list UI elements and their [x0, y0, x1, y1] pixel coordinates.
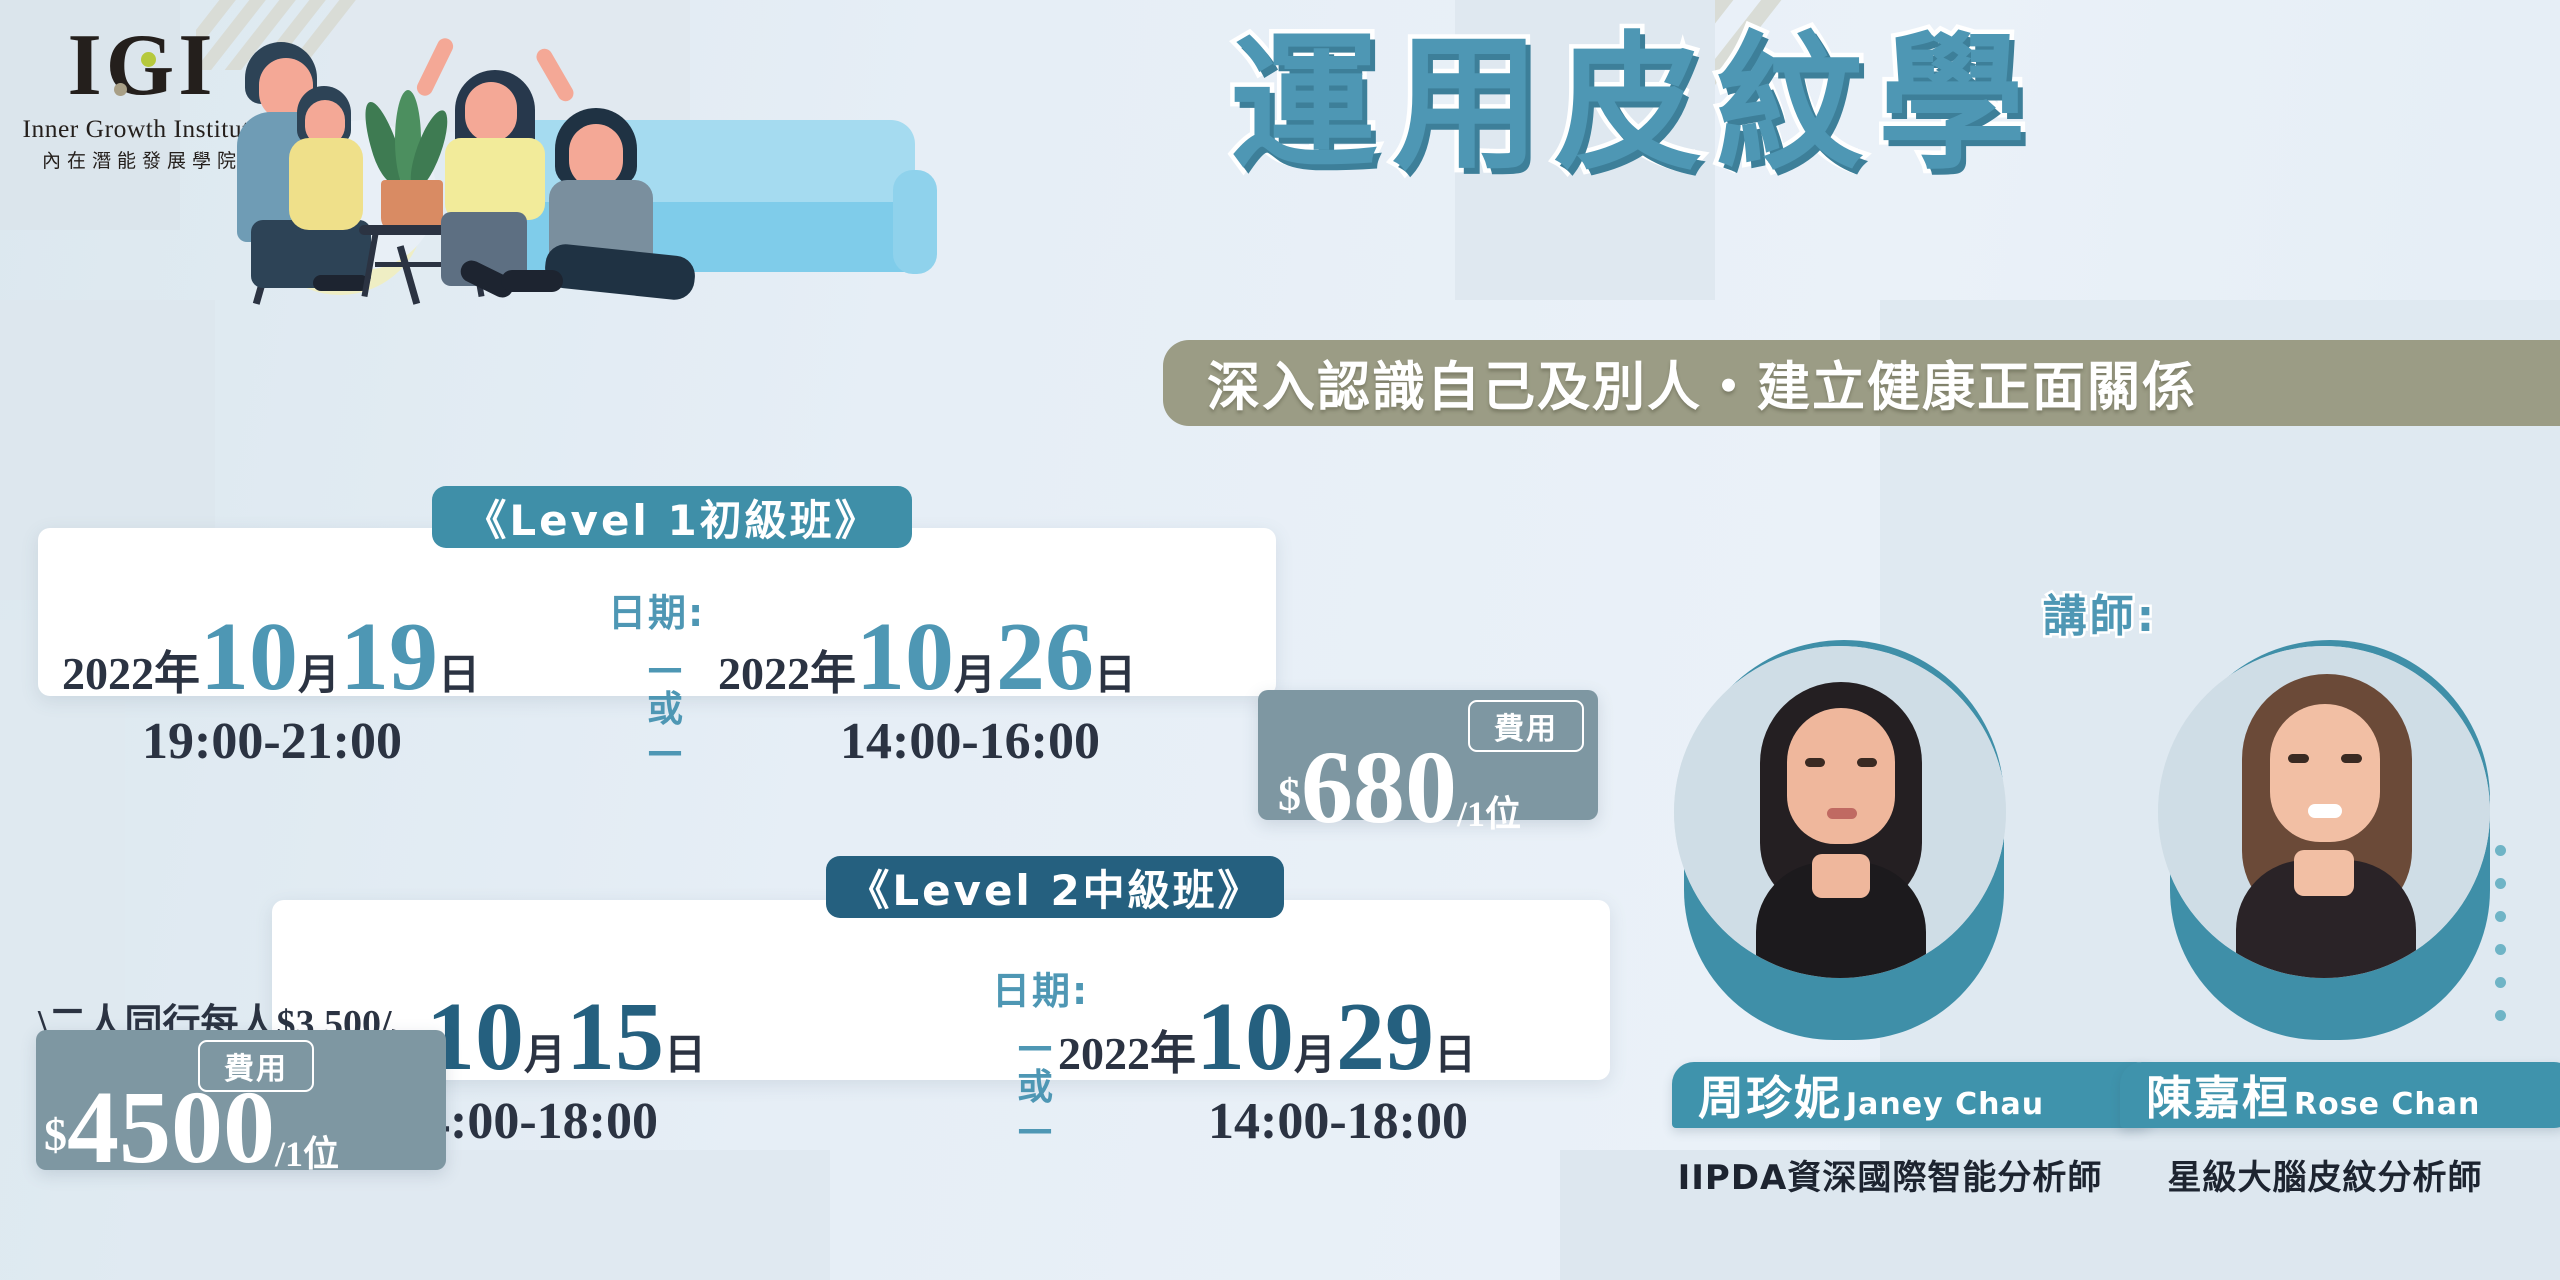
illustration-girl-arm-left [414, 36, 456, 99]
family-illustration [255, 20, 1125, 310]
level1-or-separator: — 或 — [630, 648, 700, 772]
level2-price-per: /1位 [275, 1134, 339, 1174]
illustration-child-body [289, 138, 363, 230]
subtitle-band: 深入認識自己及別人・建立健康正面關係 [1163, 340, 2560, 426]
banner-title-area: 運用皮紋學 [1230, 14, 2560, 204]
logo-english-name: Inner Growth Institute [22, 114, 262, 144]
instructor1-avatar [1674, 646, 2006, 978]
level1-option2-date: 2022年10月26日 [718, 608, 1136, 706]
level2-option1-day-unit: 日 [664, 1033, 706, 1079]
brand-logo: IGI Inner Growth Institute 內在潛能發展學院 [22, 22, 262, 173]
instructor2-role-text: 星級大腦皮紋分析師 [2168, 1158, 2483, 1198]
instructor2-name-tag: 陳嘉桓 Rose Chan [2120, 1062, 2560, 1128]
level1-price-currency: $ [1278, 769, 1301, 820]
level2-price: $4500/1位 [44, 1068, 339, 1187]
level1-option1-date: 2022年10月19日 [62, 608, 480, 706]
instructor1-role: IIPDA資深國際智能分析師 [1630, 1150, 2150, 1199]
level2-tag-label: 《Level 2中級班》 [847, 857, 1262, 918]
level1-option1-day: 19 [340, 603, 438, 711]
level1-option2-time: 14:00-16:00 [760, 712, 1180, 771]
illustration-girl-face [465, 82, 517, 142]
banner-canvas: IGI Inner Growth Institute 內在潛能發展學院 [0, 0, 2560, 1280]
instructors-label-text: 講師: [2043, 591, 2158, 642]
level1-option1-month: 10 [200, 603, 298, 711]
level2-option1-month-unit: 月 [524, 1033, 566, 1079]
level1-or-dash-top: — [630, 648, 700, 689]
instructors-label: 講師: [1960, 580, 2240, 644]
level1-price: $680/1位 [1278, 728, 1521, 847]
level1-date-label: 日期: [608, 582, 705, 637]
instructor2-avatar [2158, 646, 2490, 978]
level1-option1-year: 2022年 [62, 648, 200, 699]
level2-option2-day-unit: 日 [1434, 1033, 1476, 1079]
level1-option1-day-unit: 日 [438, 653, 480, 699]
level1-option2-month-unit: 月 [954, 653, 996, 699]
level2-option2-date: 2022年10月29日 [1058, 988, 1476, 1086]
level1-option2-time-text: 14:00-16:00 [840, 713, 1100, 770]
banner-title-text: 運用皮紋學 [1230, 18, 2040, 190]
level1-or-text: 或 [630, 689, 700, 730]
instructor2-name-zh: 陳嘉桓 [2146, 1062, 2290, 1128]
instructor2-name-en: Rose Chan [2294, 1087, 2480, 1122]
instructor1-name-tag: 周珍妮 Janey Chau [1672, 1062, 2158, 1128]
instructor1-role-text: IIPDA資深國際智能分析師 [1678, 1158, 2103, 1198]
level1-option1-time: 19:00-21:00 [62, 712, 482, 771]
illustration-father-shoe [313, 275, 369, 291]
level2-option2-month: 10 [1196, 983, 1294, 1091]
instructor1-name-en: Janey Chau [1846, 1087, 2044, 1122]
level1-or-dash-bottom: — [630, 731, 700, 772]
illustration-boy-shoe [501, 270, 563, 292]
subtitle-text: 深入認識自己及別人・建立健康正面關係 [1207, 345, 2197, 421]
level1-tag: 《Level 1初級班》 [432, 486, 912, 548]
level2-option2-day: 29 [1336, 983, 1434, 1091]
illustration-girl-arm-right [534, 46, 577, 104]
level1-option1-time-text: 19:00-21:00 [142, 713, 402, 770]
level1-option2-year: 2022年 [718, 648, 856, 699]
level2-option2-year: 2022年 [1058, 1028, 1196, 1079]
banner-title: 運用皮紋學 [1230, 14, 2040, 194]
level2-price-currency: $ [44, 1109, 67, 1160]
illustration-girl-top [445, 138, 545, 220]
logo-dot-green-icon [141, 52, 156, 67]
level1-option1-month-unit: 月 [298, 653, 340, 699]
level2-option1-day: 15 [566, 983, 664, 1091]
level2-option2-time: 14:00-18:00 [1128, 1092, 1548, 1151]
logo-letters: IGI [68, 22, 217, 110]
level2-or-dash-bottom: — [1000, 1109, 1070, 1150]
illustration-boy-face [569, 124, 623, 188]
level1-tag-label: 《Level 1初級班》 [464, 487, 879, 548]
level1-price-per: /1位 [1457, 794, 1521, 834]
level2-option2-time-text: 14:00-18:00 [1208, 1093, 1468, 1150]
level1-date-label-text: 日期: [608, 591, 705, 635]
level1-price-amount: 680 [1301, 730, 1457, 845]
illustration-sofa-arm-right [893, 170, 937, 274]
instructor1-name-zh: 周珍妮 [1698, 1062, 1842, 1128]
level2-tag: 《Level 2中級班》 [826, 856, 1284, 918]
instructor2-role: 星級大腦皮紋分析師 [2110, 1150, 2540, 1199]
level2-option2-month-unit: 月 [1294, 1033, 1336, 1079]
level1-option2-month: 10 [856, 603, 954, 711]
level2-price-amount: 4500 [67, 1070, 275, 1185]
level1-option2-day: 26 [996, 603, 1094, 711]
logo-chinese-name: 內在潛能發展學院 [22, 146, 262, 173]
logo-dot-tan-icon [114, 83, 127, 96]
level1-option2-day-unit: 日 [1094, 653, 1136, 699]
decorative-dots [2495, 845, 2506, 1043]
